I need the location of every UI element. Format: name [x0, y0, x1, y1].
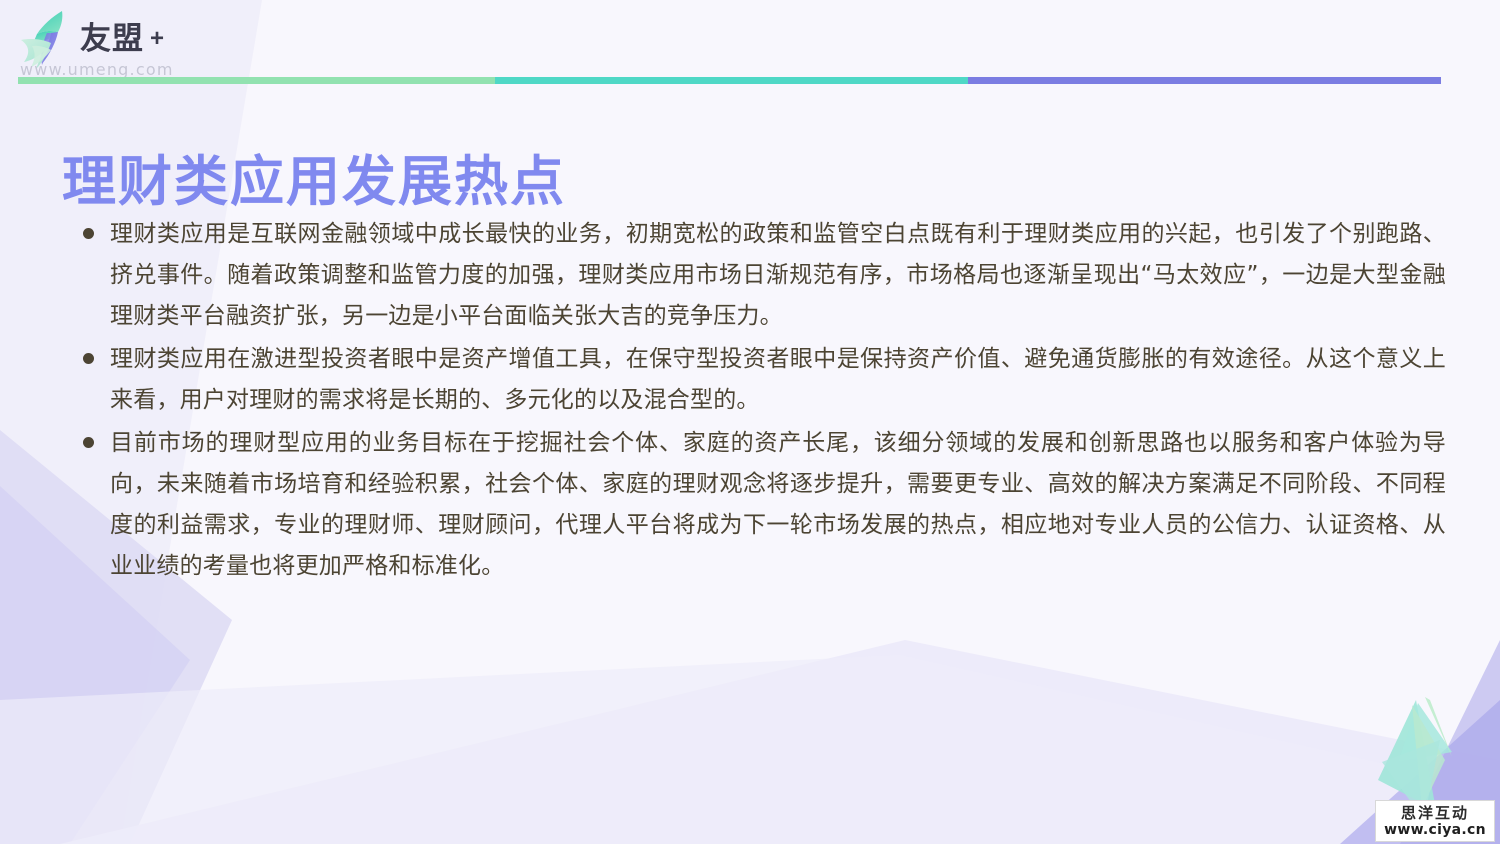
bullet-text: 目前市场的理财型应用的业务目标在于挖掘社会个体、家庭的资产长尾，该细分领域的发展… — [110, 423, 1446, 587]
header-divider — [18, 77, 1441, 84]
bullet-dot-icon — [83, 437, 94, 448]
divider-segment-teal — [495, 77, 968, 84]
bullet-dot-icon — [83, 228, 94, 239]
divider-segment-purple — [968, 77, 1441, 84]
watermark-name: 思洋互动 — [1401, 806, 1469, 821]
bullet-text: 理财类应用在激进型投资者眼中是资产增值工具，在保守型投资者眼中是保持资产价值、避… — [110, 339, 1446, 421]
page-title: 理财类应用发展热点 — [62, 152, 566, 211]
watermark-badge: 思洋互动 www.ciya.cn — [1375, 800, 1495, 842]
slide-header: 友盟 + www.umeng.com — [0, 0, 1500, 90]
slide-canvas: 友盟 + www.umeng.com 理财类应用发展热点 理财类应用是互联网金融… — [0, 0, 1500, 844]
divider-segment-green — [18, 77, 495, 84]
list-item: 理财类应用是互联网金融领域中成长最快的业务，初期宽松的政策和监管空白点既有利于理… — [78, 214, 1446, 337]
list-item: 理财类应用在激进型投资者眼中是资产增值工具，在保守型投资者眼中是保持资产价值、避… — [78, 339, 1446, 421]
brand-plus: + — [150, 25, 164, 53]
watermark-url: www.ciya.cn — [1384, 823, 1486, 837]
bullet-list: 理财类应用是互联网金融领域中成长最快的业务，初期宽松的政策和监管空白点既有利于理… — [78, 214, 1446, 589]
brand-name: 友盟 — [80, 24, 144, 55]
bullet-text: 理财类应用是互联网金融领域中成长最快的业务，初期宽松的政策和监管空白点既有利于理… — [110, 214, 1446, 337]
bullet-dot-icon — [83, 353, 94, 364]
list-item: 目前市场的理财型应用的业务目标在于挖掘社会个体、家庭的资产长尾，该细分领域的发展… — [78, 423, 1446, 587]
